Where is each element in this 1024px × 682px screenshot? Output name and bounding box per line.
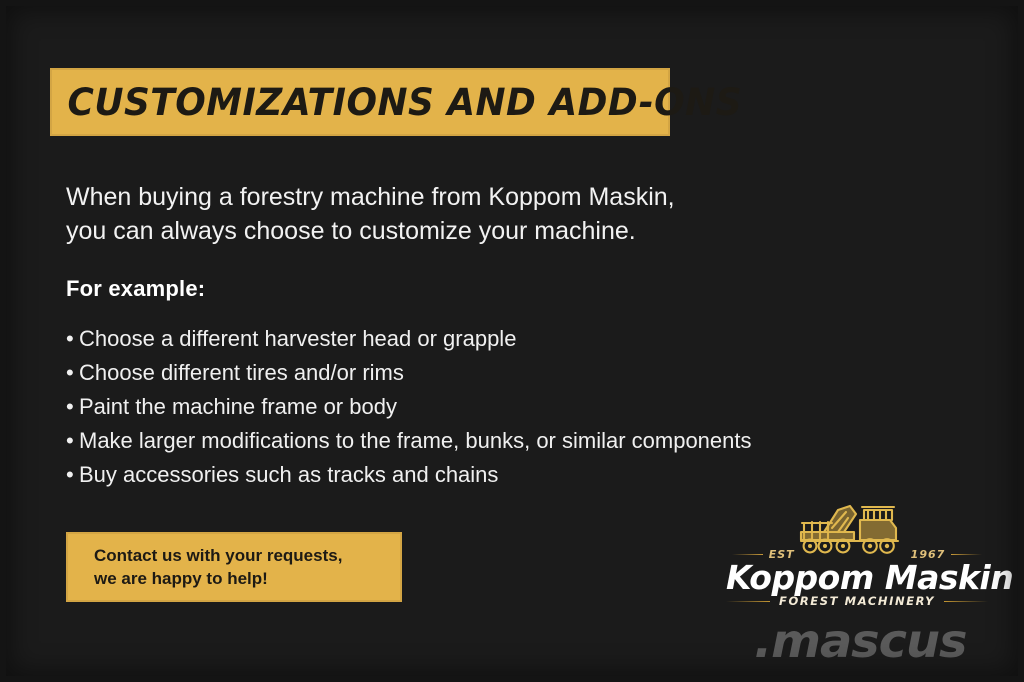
logo-tagline-divider-left bbox=[726, 601, 770, 602]
bullet-icon: • bbox=[66, 356, 79, 390]
contact-line-2: we are happy to help! bbox=[94, 567, 400, 590]
contact-cta-box[interactable]: Contact us with your requests, we are ha… bbox=[66, 532, 402, 602]
bullet-icon: • bbox=[66, 322, 79, 356]
list-item-label: Make larger modifications to the frame, … bbox=[79, 424, 752, 458]
logo-tagline-row: FOREST MACHINERY bbox=[726, 594, 988, 608]
bullet-icon: • bbox=[66, 424, 79, 458]
logo-divider-right bbox=[951, 554, 982, 555]
list-item: • Choose different tires and/or rims bbox=[66, 356, 826, 390]
page-title: CUSTOMIZATIONS AND ADD-ONS bbox=[52, 81, 742, 124]
list-item-label: Paint the machine frame or body bbox=[79, 390, 397, 424]
koppom-maskin-logo: EST 1967 Koppom Maskin FOREST MACHINERY bbox=[726, 498, 988, 610]
list-item-label: Choose a different harvester head or gra… bbox=[79, 322, 516, 356]
logo-brand-name: Koppom Maskin bbox=[726, 558, 988, 597]
list-item: • Buy accessories such as tracks and cha… bbox=[66, 458, 826, 492]
list-item: • Choose a different harvester head or g… bbox=[66, 322, 826, 356]
bullet-icon: • bbox=[66, 390, 79, 424]
slide-canvas: CUSTOMIZATIONS AND ADD-ONS When buying a… bbox=[0, 0, 1024, 682]
intro-line-2: you can always choose to customize your … bbox=[66, 214, 766, 248]
logo-tagline-divider-right bbox=[944, 601, 988, 602]
contact-line-1: Contact us with your requests, bbox=[94, 544, 400, 567]
list-item: • Paint the machine frame or body bbox=[66, 390, 826, 424]
list-item: • Make larger modifications to the frame… bbox=[66, 424, 826, 458]
intro-line-1: When buying a forestry machine from Kopp… bbox=[66, 180, 766, 214]
customization-list: • Choose a different harvester head or g… bbox=[66, 322, 826, 492]
intro-paragraph: When buying a forestry machine from Kopp… bbox=[66, 180, 766, 248]
for-example-label: For example: bbox=[66, 276, 205, 302]
title-banner: CUSTOMIZATIONS AND ADD-ONS bbox=[50, 68, 670, 136]
list-item-label: Buy accessories such as tracks and chain… bbox=[79, 458, 498, 492]
bullet-icon: • bbox=[66, 458, 79, 492]
logo-divider-left bbox=[732, 554, 763, 555]
mascus-watermark: .mascus bbox=[754, 614, 966, 668]
list-item-label: Choose different tires and/or rims bbox=[79, 356, 404, 390]
logo-tagline: FOREST MACHINERY bbox=[770, 594, 944, 608]
